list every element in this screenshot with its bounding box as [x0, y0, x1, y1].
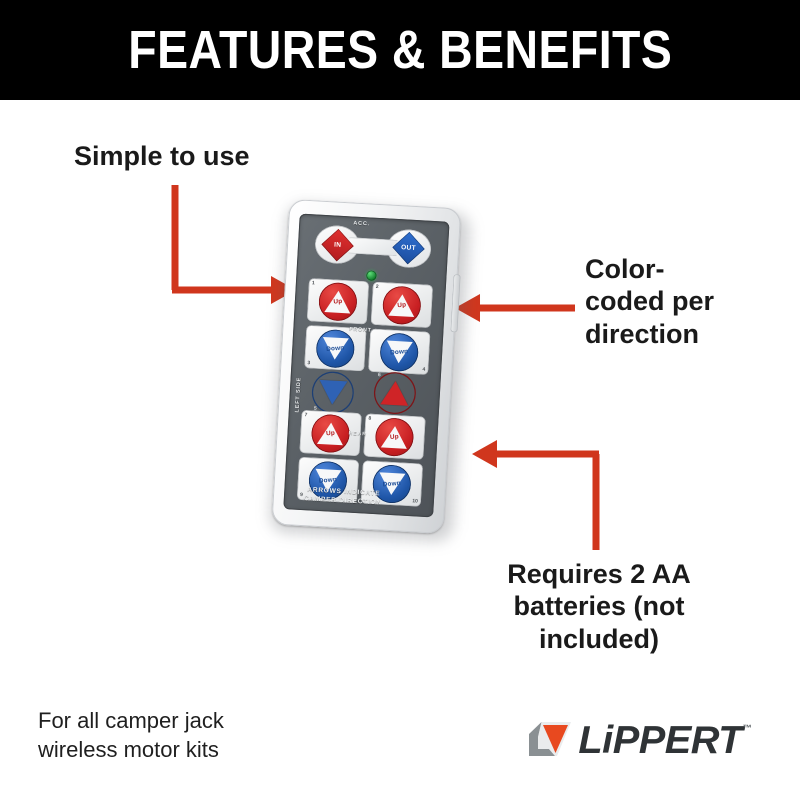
button-6-right-side-up[interactable]: 6 [373, 371, 417, 415]
remote-faceplate: ACC. IN OUT 1 Up 2 [283, 213, 449, 517]
button-4-front-right-down[interactable]: Down [379, 332, 419, 372]
acc-pad-bridge [349, 237, 398, 256]
callout-batt-line-2: batteries (not [484, 590, 714, 622]
callout-batteries: Requires 2 AA batteries (not included) [484, 558, 714, 655]
button-number-6: 6 [378, 372, 381, 378]
footer-note-line-2: wireless motor kits [38, 735, 224, 764]
button-3-label: Down [326, 344, 345, 352]
button-pad-1[interactable]: 1 Up [307, 278, 369, 324]
button-3-front-left-down[interactable]: Down [315, 328, 355, 368]
callout-color-line-3: direction [585, 318, 765, 350]
page-title: FEATURES & BENEFITS [128, 23, 672, 77]
callout-color-coded: Color- coded per direction [585, 253, 765, 350]
button-number-4: 4 [422, 367, 425, 373]
button-number-1: 1 [312, 280, 315, 286]
button-2-label: Up [397, 301, 406, 309]
brand-logo: LiPPERT ™ [527, 713, 767, 769]
remote-control-product-image: ACC. IN OUT 1 Up 2 [262, 192, 489, 553]
trademark-symbol: ™ [743, 723, 752, 733]
label-left-side: LEFT SIDE [295, 377, 303, 413]
button-5-left-side-down[interactable]: 5 [311, 370, 355, 414]
label-front: FRONT [349, 326, 372, 333]
button-number-9: 9 [300, 492, 303, 498]
triangle-up-icon [380, 380, 409, 406]
callout-color-line-2: coded per [585, 285, 765, 317]
label-rear: REAR [348, 431, 367, 438]
button-number-10: 10 [412, 498, 418, 504]
button-pad-4[interactable]: 4 Down [368, 329, 430, 375]
lippert-logo-mark-icon [527, 720, 573, 762]
acc-button-pad[interactable]: IN OUT [314, 224, 432, 268]
button-number-3: 3 [307, 360, 310, 366]
button-8-rear-right-up[interactable]: Up [374, 417, 414, 457]
lippert-wordmark: LiPPERT ™ [578, 719, 742, 763]
callout-simple-text: Simple to use [74, 140, 250, 172]
button-7-rear-left-up[interactable]: Up [311, 413, 351, 453]
button-pad-2[interactable]: 2 Up [371, 282, 433, 328]
button-8-label: Up [390, 433, 399, 441]
button-1-front-left-up[interactable]: Up [318, 281, 358, 321]
button-10-label: Down [382, 479, 401, 487]
triangle-down-icon [318, 380, 347, 406]
button-2-front-right-up[interactable]: Up [382, 285, 422, 325]
front-button-group: 1 Up 2 Up 3 Down [304, 278, 433, 375]
button-9-label: Down [319, 476, 338, 484]
button-number-8: 8 [368, 416, 371, 422]
callout-simple-to-use: Simple to use [74, 140, 250, 172]
button-number-7: 7 [304, 412, 307, 418]
status-led-indicator [366, 270, 377, 281]
button-number-2: 2 [376, 284, 379, 290]
button-4-label: Down [390, 348, 409, 356]
header-band: FEATURES & BENEFITS [0, 0, 800, 100]
button-1-label: Up [333, 297, 342, 305]
arrow-batteries [470, 432, 610, 557]
button-acc-in-label: IN [334, 241, 342, 248]
lippert-wordmark-text: LiPPERT [578, 719, 742, 762]
button-10-rear-right-down[interactable]: Down [372, 464, 412, 504]
callout-batt-line-1: Requires 2 AA [484, 558, 714, 590]
callout-batt-line-3: included) [484, 623, 714, 655]
button-7-label: Up [326, 429, 335, 437]
footer-note-line-1: For all camper jack [38, 706, 224, 735]
button-acc-out-label: OUT [401, 244, 416, 252]
button-pad-8[interactable]: 8 Up [363, 413, 425, 459]
callout-color-line-1: Color- [585, 253, 765, 285]
footer-note: For all camper jack wireless motor kits [38, 706, 224, 764]
